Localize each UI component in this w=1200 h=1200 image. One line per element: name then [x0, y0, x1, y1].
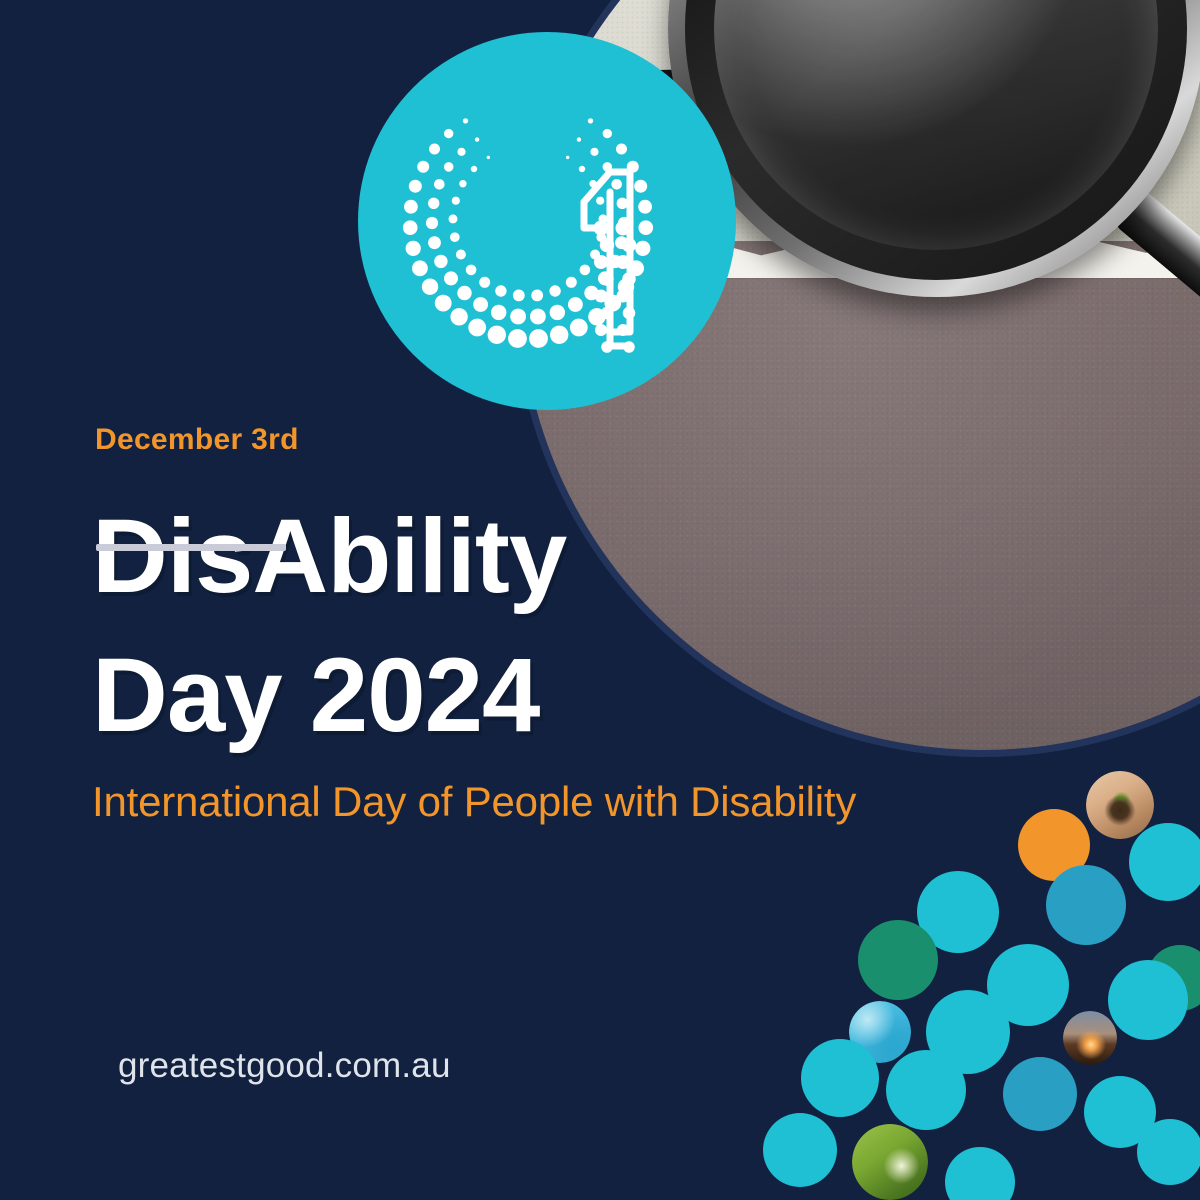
decorative-dot: [1137, 1119, 1200, 1185]
decorative-dot: [1084, 1076, 1156, 1148]
decorative-dot: [1129, 823, 1200, 901]
decorative-dot: [858, 920, 938, 1000]
event-date: December 3rd: [95, 423, 299, 457]
decorative-dot: [1108, 960, 1188, 1040]
decorative-dot: [926, 990, 1010, 1074]
strikethrough-line: [96, 544, 286, 551]
ph-seedling-image: [1086, 771, 1154, 839]
ph-water-image: [849, 1001, 911, 1063]
photo-dot: [1086, 771, 1154, 839]
magnifier-lens: [714, 0, 1158, 250]
ph-leaf-image: [852, 1124, 928, 1200]
magnifier-outer-ring: [668, 0, 1200, 297]
poster-canvas: ABILITY December 3rd Dis Ability: [0, 0, 1200, 1200]
decorative-dot: [1046, 865, 1126, 945]
brand-logo[interactable]: [358, 32, 736, 410]
decorative-dot: [945, 1147, 1015, 1200]
headline-line-two: Day 2024: [92, 627, 566, 766]
ph-sunset-image: [1063, 1011, 1117, 1065]
decorative-dot: [763, 1113, 837, 1187]
decorative-dot: [886, 1050, 966, 1130]
decorative-dot: [801, 1039, 879, 1117]
logo-mark-icon: [358, 32, 736, 410]
photo-dot: [1063, 1011, 1117, 1065]
page-subtitle: International Day of People with Disabil…: [92, 778, 856, 826]
photo-dot: [849, 1001, 911, 1063]
magnifier-inner-ring: [685, 0, 1187, 280]
decorative-dot: [1003, 1057, 1077, 1131]
decorative-dot: [987, 944, 1069, 1026]
headline-word-ability: Ability: [252, 498, 566, 615]
page-title: Dis Ability Day 2024: [92, 488, 566, 765]
decorative-dot: [1147, 945, 1200, 1011]
magnifying-glass-icon: [668, 0, 1200, 297]
photo-dot: [852, 1124, 928, 1200]
struck-word-dis: Dis: [92, 488, 252, 627]
decorative-dot: [1018, 809, 1090, 881]
struck-word-text: Dis: [92, 498, 252, 615]
website-url[interactable]: greatestgood.com.au: [118, 1046, 451, 1086]
decorative-dot: [917, 871, 999, 953]
